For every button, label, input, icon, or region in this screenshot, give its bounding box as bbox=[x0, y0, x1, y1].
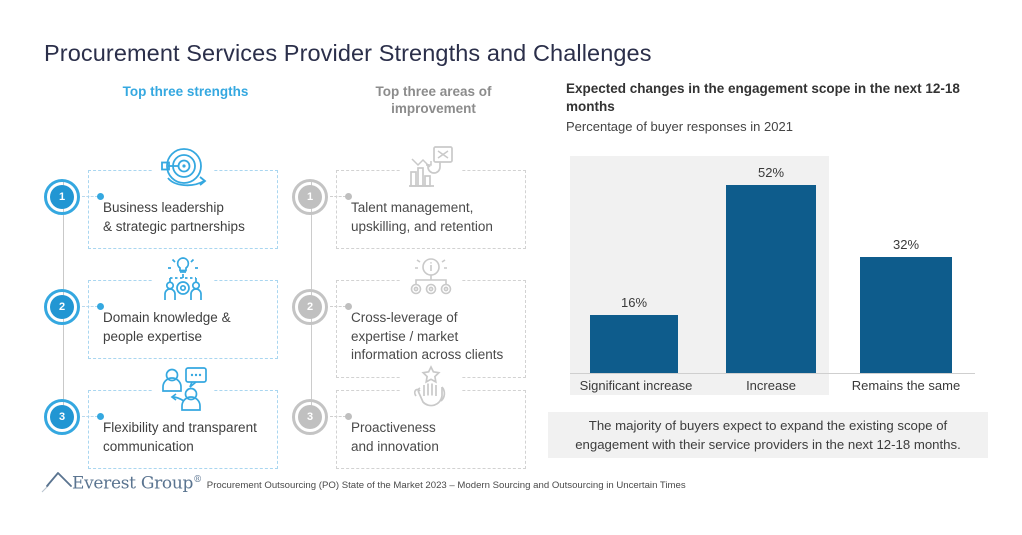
improvement-label-2: Cross-leverage of expertise / market inf… bbox=[351, 309, 515, 365]
hand-star-icon bbox=[400, 363, 462, 415]
strength-badge-number-1: 1 bbox=[50, 185, 74, 209]
improvement-badge-3: 3 bbox=[292, 399, 328, 435]
strengths-column-heading: Top three strengths bbox=[88, 83, 283, 100]
strength-badge-2: 2 bbox=[44, 289, 80, 325]
footer: Everest Group® Procurement Outsourcing (… bbox=[40, 470, 686, 494]
strength-card-2[interactable]: Domain knowledge & people expertise bbox=[88, 280, 278, 359]
information-network-icon bbox=[400, 253, 462, 305]
chart-panel-header: Expected changes in the engagement scope… bbox=[566, 80, 978, 134]
chart-axis-line bbox=[570, 373, 975, 374]
bar-value-2: 32% bbox=[893, 237, 919, 252]
bar-0[interactable] bbox=[590, 315, 678, 373]
improvement-badge-1: 1 bbox=[292, 179, 328, 215]
improvement-card-3[interactable]: Proactiveness and innovation bbox=[336, 390, 526, 469]
insight-callout-text: The majority of buyers expect to expand … bbox=[562, 416, 974, 454]
bar-chart: 16% 52% 32% Significant increase Increas… bbox=[566, 156, 978, 396]
strength-label-2: Domain knowledge & people expertise bbox=[103, 309, 267, 346]
target-arrow-icon bbox=[152, 143, 214, 195]
bar-value-1: 52% bbox=[758, 165, 784, 180]
bar-group-increase[interactable]: 52% bbox=[726, 156, 816, 373]
bar-2[interactable] bbox=[860, 257, 952, 373]
people-chat-icon bbox=[152, 363, 214, 415]
strength-label-3: Flexibility and transparent communicatio… bbox=[103, 419, 267, 456]
improvement-badge-number-2: 2 bbox=[298, 295, 322, 319]
bar-1[interactable] bbox=[726, 185, 816, 373]
chart-subtitle: Percentage of buyer responses in 2021 bbox=[566, 119, 978, 134]
strength-card-3[interactable]: Flexibility and transparent communicatio… bbox=[88, 390, 278, 469]
footer-source-note: Procurement Outsourcing (PO) State of th… bbox=[207, 478, 686, 494]
people-gear-idea-icon bbox=[152, 253, 214, 305]
improvement-badge-number-1: 1 bbox=[298, 185, 322, 209]
strength-badge-3: 3 bbox=[44, 399, 80, 435]
improvements-column-heading: Top three areas of improvement bbox=[336, 83, 531, 117]
improvement-card-1[interactable]: Talent management, upskilling, and reten… bbox=[336, 170, 526, 249]
improvement-badge-2: 2 bbox=[292, 289, 328, 325]
insight-callout: The majority of buyers expect to expand … bbox=[548, 412, 988, 458]
strength-badge-number-2: 2 bbox=[50, 295, 74, 319]
chart-title: Expected changes in the engagement scope… bbox=[566, 80, 978, 115]
bar-group-remains-the-same[interactable]: 32% bbox=[860, 156, 952, 373]
improvement-label-3: Proactiveness and innovation bbox=[351, 419, 515, 456]
bar-group-significant-increase[interactable]: 16% bbox=[590, 156, 678, 373]
logo-registered-mark: ® bbox=[193, 475, 202, 485]
chart-plot-area: 16% 52% 32% bbox=[566, 156, 978, 373]
improvement-badge-number-3: 3 bbox=[298, 405, 322, 429]
strength-badge-1: 1 bbox=[44, 179, 80, 215]
everest-group-wordmark: Everest Group® bbox=[72, 471, 202, 494]
improvement-label-1: Talent management, upskilling, and reten… bbox=[351, 199, 515, 236]
strength-label-1: Business leadership & strategic partners… bbox=[103, 199, 267, 236]
logo-name: Everest Group bbox=[72, 474, 193, 494]
page-title: Procurement Services Provider Strengths … bbox=[44, 40, 652, 67]
everest-peak-logo-icon bbox=[40, 470, 74, 494]
strength-card-1[interactable]: Business leadership & strategic partners… bbox=[88, 170, 278, 249]
bar-value-0: 16% bbox=[621, 295, 647, 310]
declining-chart-people-icon bbox=[400, 143, 462, 195]
strength-badge-number-3: 3 bbox=[50, 405, 74, 429]
category-label-2: Remains the same bbox=[826, 378, 986, 393]
